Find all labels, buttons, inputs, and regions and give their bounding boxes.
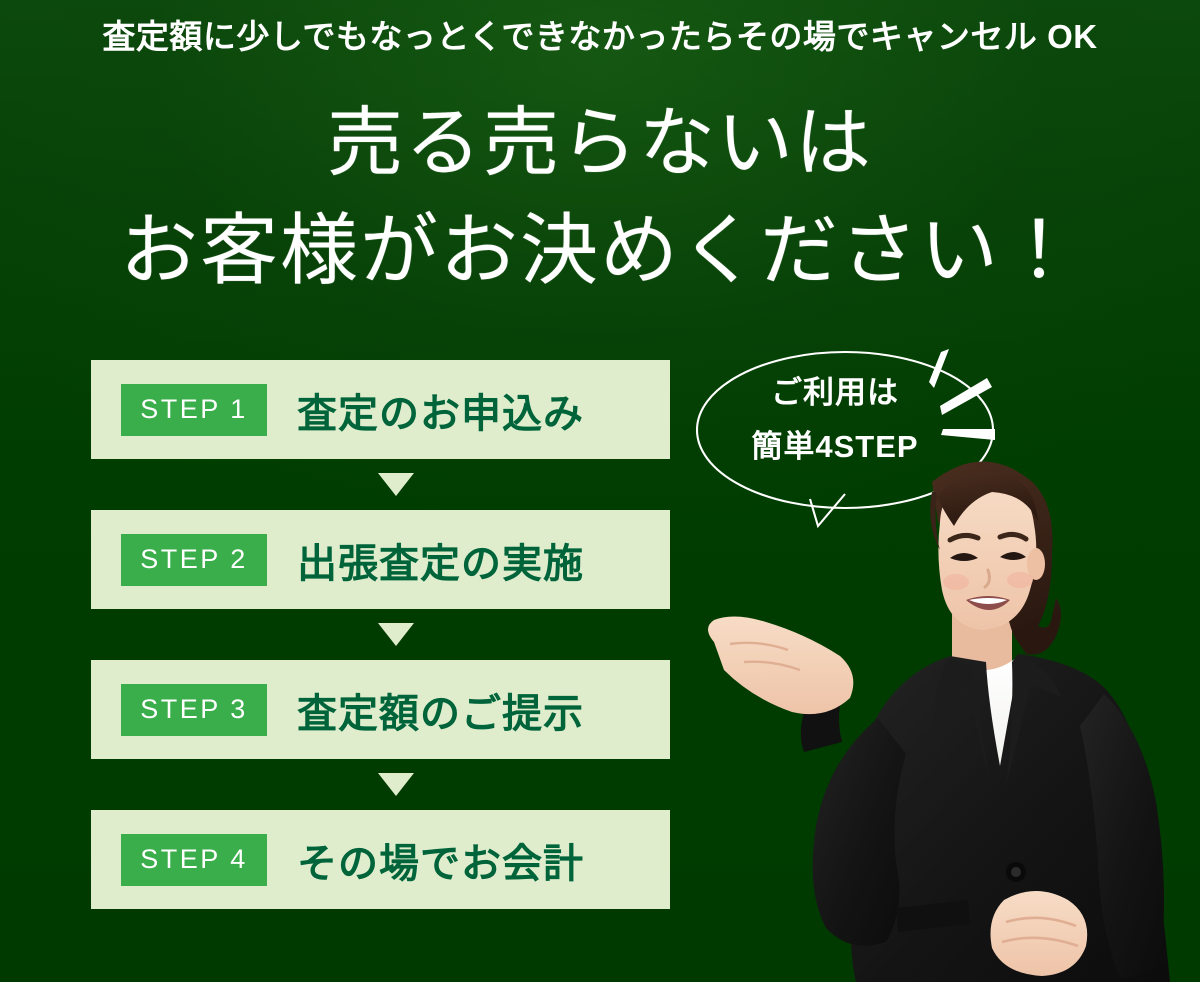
step-badge-3: STEP 3 bbox=[121, 684, 267, 736]
triangle-down-icon bbox=[378, 473, 414, 496]
step-badge-1: STEP 1 bbox=[121, 384, 267, 436]
step-item-2[interactable]: STEP 2 出張査定の実施 bbox=[91, 510, 670, 609]
cheek-left bbox=[943, 574, 969, 590]
step-label-4: その場でお会計 bbox=[297, 831, 670, 889]
arm-left bbox=[813, 718, 906, 946]
step-item-1[interactable]: STEP 1 査定のお申込み bbox=[91, 360, 670, 459]
page-title: 売る売らないは お客様がお決めください！ bbox=[0, 92, 1200, 305]
step-item-3[interactable]: STEP 3 査定額のご提示 bbox=[91, 660, 670, 759]
step-item-4[interactable]: STEP 4 その場でお会計 bbox=[91, 810, 670, 909]
subtitle-text: 査定額に少しでもなっとくできなかったらその場でキャンセル OK bbox=[0, 16, 1200, 59]
headline-line-2: お客様がお決めください！ bbox=[0, 197, 1200, 305]
bubble-line-1: ご利用は bbox=[690, 366, 980, 420]
step-connector-2 bbox=[91, 609, 670, 660]
hero-banner: 査定額に少しでもなっとくできなかったらその場でキャンセル OK 売る売らないは … bbox=[0, 0, 1200, 982]
step-label-1: 査定のお申込み bbox=[297, 381, 670, 439]
headline-line-1: 売る売らないは bbox=[0, 92, 1200, 197]
presenter-photo bbox=[700, 430, 1200, 982]
step-badge-4: STEP 4 bbox=[121, 834, 267, 886]
jacket-button-inner bbox=[1011, 867, 1021, 877]
step-label-2: 出張査定の実施 bbox=[297, 531, 670, 589]
step-list: STEP 1 査定のお申込み STEP 2 出張査定の実施 STEP 3 査定額… bbox=[91, 360, 670, 909]
step-connector-3 bbox=[91, 759, 670, 810]
step-label-3: 査定額のご提示 bbox=[297, 681, 670, 739]
cheek-right bbox=[1007, 572, 1033, 588]
step-connector-1 bbox=[91, 459, 670, 510]
clasped-hands bbox=[991, 891, 1088, 976]
step-badge-2: STEP 2 bbox=[121, 534, 267, 586]
triangle-down-icon bbox=[378, 623, 414, 646]
triangle-down-icon bbox=[378, 773, 414, 796]
presenter-illustration bbox=[700, 430, 1200, 982]
